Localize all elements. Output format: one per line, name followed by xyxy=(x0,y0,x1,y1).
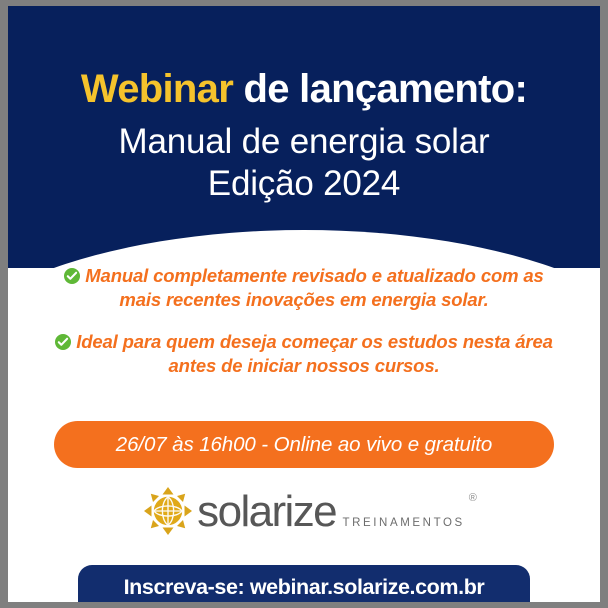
brand-name: solarize xyxy=(197,487,336,536)
brand-tagline: TREINAMENTOS xyxy=(340,517,464,529)
solar-sun-grid-icon xyxy=(143,486,193,536)
list-item-label: Ideal para quem deseja começar os estudo… xyxy=(76,331,553,376)
check-circle-icon xyxy=(64,268,80,284)
check-circle-icon xyxy=(55,334,71,350)
page-title-highlight: Webinar xyxy=(81,67,233,111)
registered-trademark-icon: ® xyxy=(469,492,477,504)
brand-logo: solarize ® TREINAMENTOS xyxy=(8,486,600,536)
registration-url-label: Inscreva-se: webinar.solarize.com.br xyxy=(124,575,485,600)
list-item: Ideal para quem deseja começar os estudo… xyxy=(8,330,600,378)
event-datetime-label: 26/07 às 16h00 - Online ao vivo e gratui… xyxy=(116,433,492,457)
list-item: Manual completamente revisado e atualiza… xyxy=(8,264,600,312)
page-subtitle-line-1: Manual de energia solar xyxy=(8,121,600,162)
page-subtitle-line-2: Edição 2024 xyxy=(8,163,600,204)
promo-poster: Webinar de lançamento: Manual de energia… xyxy=(8,6,600,602)
feature-list: Manual completamente revisado e atualiza… xyxy=(8,264,600,378)
header-text-block: Webinar de lançamento: Manual de energia… xyxy=(8,6,600,204)
list-item-label: Manual completamente revisado e atualiza… xyxy=(85,265,543,310)
registration-footer-bar[interactable]: Inscreva-se: webinar.solarize.com.br xyxy=(78,565,530,602)
page-title-rest: de lançamento: xyxy=(233,67,527,111)
brand-wordmark: solarize ® TREINAMENTOS xyxy=(197,489,465,533)
page-title: Webinar de lançamento: xyxy=(8,68,600,110)
event-datetime-badge: 26/07 às 16h00 - Online ao vivo e gratui… xyxy=(54,421,554,468)
